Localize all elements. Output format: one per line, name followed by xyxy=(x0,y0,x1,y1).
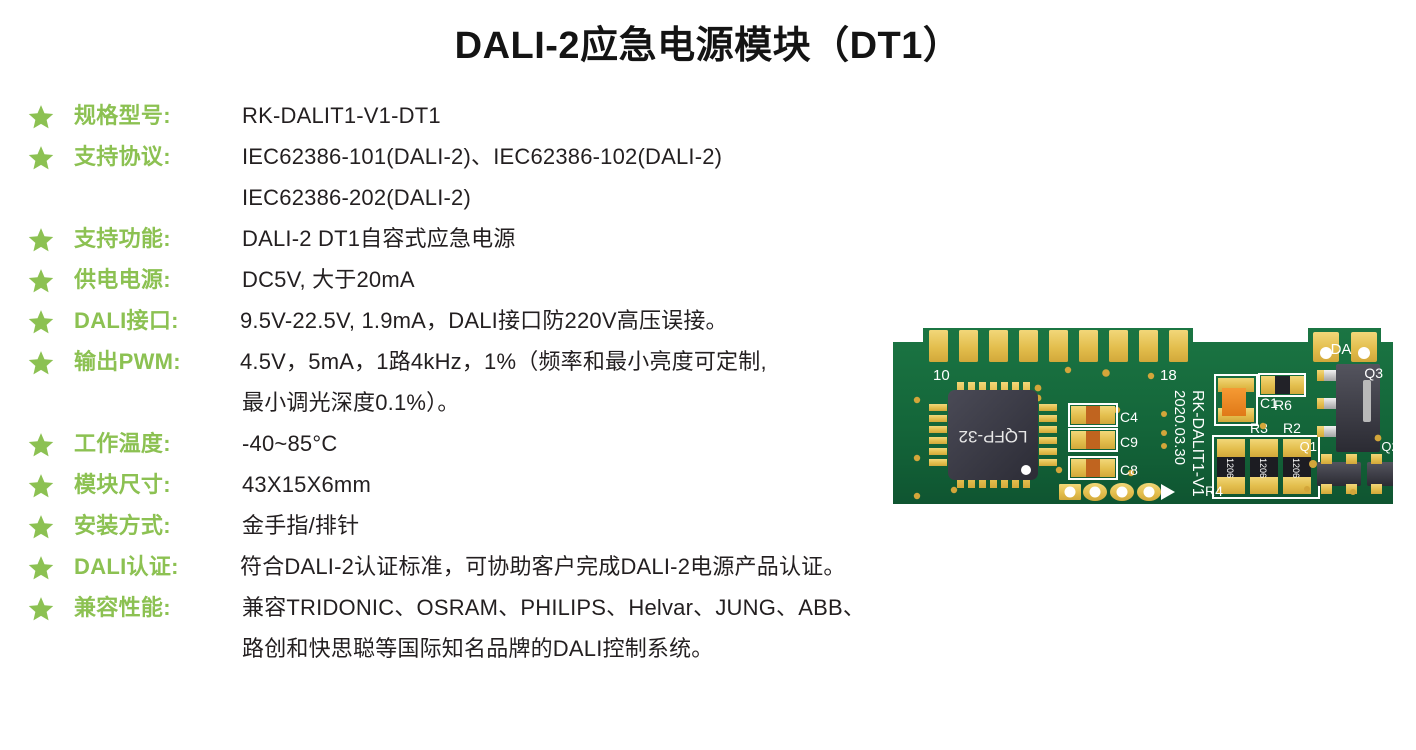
star-icon-cell-placeholder xyxy=(28,633,74,663)
star-icon-cell xyxy=(28,428,74,458)
spec-label: DALI认证: xyxy=(74,551,240,583)
board-date-label: 2020.03.30 xyxy=(1171,390,1188,465)
spec-value: IEC62386-101(DALI-2)、IEC62386-102(DALI-2… xyxy=(242,141,928,173)
spec-label: 兼容性能: xyxy=(74,592,242,624)
pin-number-18-label: 18 xyxy=(1160,367,1177,384)
star-icon xyxy=(28,432,54,458)
spec-row-continuation: IEC62386-202(DALI-2) xyxy=(28,182,928,223)
component-label-r6: R6 xyxy=(1274,397,1292,413)
spec-value: RK-DALIT1-V1-DT1 xyxy=(242,100,928,132)
microcontroller-ic: LQFP-32 xyxy=(929,382,1057,488)
gold-finger-connector xyxy=(929,330,1188,362)
spec-row: 支持功能: DALI-2 DT1自容式应急电源 xyxy=(28,223,928,264)
spec-value: 4.5V，5mA，1路4kHz，1%（频率和最小亮度可定制, xyxy=(240,346,928,378)
spec-label: 支持功能: xyxy=(74,223,242,255)
spec-value: 符合DALI-2认证标准，可协助客户完成DALI-2电源产品认证。 xyxy=(240,551,928,583)
component-label-c4: C4 xyxy=(1120,409,1138,425)
pcb-illustration: 10 18 xyxy=(893,318,1393,518)
star-icon xyxy=(28,350,54,376)
spec-label: DALI接口: xyxy=(74,305,240,337)
spec-label: 工作温度: xyxy=(74,428,242,460)
spec-value: DC5V, 大于20mA xyxy=(242,264,928,296)
resistor-code-label: 1206 xyxy=(1291,458,1301,478)
star-icon-cell xyxy=(28,551,74,581)
spec-row: 输出PWM: 4.5V，5mA，1路4kHz，1%（频率和最小亮度可定制, xyxy=(28,346,928,387)
page-title: DALI-2应急电源模块（DT1） xyxy=(0,14,1416,69)
spec-row: 安装方式: 金手指/排针 xyxy=(28,510,928,551)
spec-label: 安装方式: xyxy=(74,510,242,542)
spec-label: 输出PWM: xyxy=(74,346,240,378)
power-section: C1 R6 1206 1206 xyxy=(1205,374,1319,499)
star-icon xyxy=(28,104,54,130)
pin-number-10-label: 10 xyxy=(933,367,950,384)
component-label-r2: R2 xyxy=(1283,420,1301,436)
spec-value: 43X15X6mm xyxy=(242,469,928,501)
spec-label: 规格型号: xyxy=(74,100,242,132)
component-label-c9: C9 xyxy=(1120,434,1138,450)
da-connector-label: DA xyxy=(1331,341,1352,358)
spec-label: 供电电源: xyxy=(74,264,242,296)
star-icon xyxy=(28,596,54,622)
spec-row: DALI认证: 符合DALI-2认证标准，可协助客户完成DALI-2电源产品认证… xyxy=(28,551,928,592)
star-icon-cell xyxy=(28,469,74,499)
spec-row: 工作温度: -40~85°C xyxy=(28,428,928,469)
star-icon-cell-placeholder xyxy=(28,387,74,417)
component-label-c8: C8 xyxy=(1120,462,1138,478)
star-icon-cell xyxy=(28,346,74,376)
component-label-q2: Q2 xyxy=(1381,439,1393,454)
spec-row: 兼容性能: 兼容TRIDONIC、OSRAM、PHILIPS、Helvar、JU… xyxy=(28,592,928,633)
star-icon-cell xyxy=(28,592,74,622)
spec-label: 支持协议: xyxy=(74,141,242,173)
star-icon-cell xyxy=(28,510,74,540)
star-icon xyxy=(28,145,54,171)
component-label-q1: Q1 xyxy=(1300,439,1317,454)
capacitor-cluster: C4 C9 C8 xyxy=(1069,404,1138,479)
star-icon-cell xyxy=(28,305,74,335)
spec-row: 支持协议: IEC62386-101(DALI-2)、IEC62386-102(… xyxy=(28,141,928,182)
spec-row: DALI接口: 9.5V-22.5V, 1.9mA，DALI接口防220V高压误… xyxy=(28,305,928,346)
spec-row: 模块尺寸: 43X15X6mm xyxy=(28,469,928,510)
star-icon xyxy=(28,227,54,253)
component-label-q3: Q3 xyxy=(1364,365,1383,381)
resistor-code-label: 1206 xyxy=(1225,458,1235,478)
star-icon-cell xyxy=(28,100,74,130)
star-icon-cell xyxy=(28,141,74,171)
spec-row: 供电电源: DC5V, 大于20mA xyxy=(28,264,928,305)
spec-value: -40~85°C xyxy=(242,428,928,460)
star-icon xyxy=(28,268,54,294)
spec-value: 9.5V-22.5V, 1.9mA，DALI接口防220V高压误接。 xyxy=(240,305,928,337)
spec-label: 模块尺寸: xyxy=(74,469,242,501)
spec-value: 金手指/排针 xyxy=(242,510,928,542)
star-icon xyxy=(28,473,54,499)
star-icon xyxy=(28,514,54,540)
star-icon-cell xyxy=(28,223,74,253)
star-icon-cell xyxy=(28,264,74,294)
star-icon xyxy=(28,555,54,581)
star-icon-cell-placeholder xyxy=(28,182,74,212)
spec-value: 最小调光深度0.1%）。 xyxy=(242,387,928,419)
spec-value: IEC62386-202(DALI-2) xyxy=(242,182,928,214)
ic-part-number-label: LQFP-32 xyxy=(959,427,1028,446)
pcb-photo: 10 18 xyxy=(893,318,1393,518)
board-marking-label: RK-DALIT1-V1 xyxy=(1189,390,1206,497)
spec-row: 规格型号: RK-DALIT1-V1-DT1 xyxy=(28,100,928,141)
spec-value: 兼容TRIDONIC、OSRAM、PHILIPS、Helvar、JUNG、ABB… xyxy=(242,592,928,624)
spec-row-continuation: 路创和快思聪等国际知名品牌的DALI控制系统。 xyxy=(28,633,928,674)
star-icon xyxy=(28,309,54,335)
spec-list: 规格型号: RK-DALIT1-V1-DT1 支持协议: IEC62386-10… xyxy=(28,100,928,674)
spec-row-continuation: 最小调光深度0.1%）。 xyxy=(28,387,928,428)
spec-value: 路创和快思聪等国际知名品牌的DALI控制系统。 xyxy=(242,633,928,665)
component-label-r4: R4 xyxy=(1205,483,1223,499)
spec-value: DALI-2 DT1自容式应急电源 xyxy=(242,223,928,255)
resistor-code-label: 1206 xyxy=(1258,458,1268,478)
